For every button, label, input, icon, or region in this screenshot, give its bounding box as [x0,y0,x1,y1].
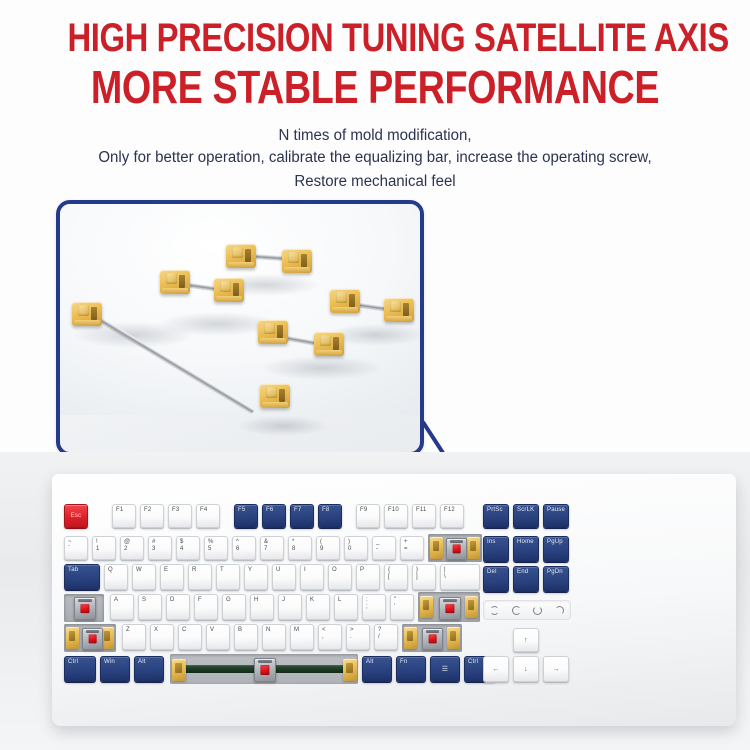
key-4[interactable]: $ 4 [176,536,200,560]
subtitle-line-2: Only for better operation, calibrate the… [11,148,739,168]
key-e[interactable]: E [160,564,184,590]
key-right-alt[interactable]: Alt [362,656,392,682]
key-win[interactable]: Win [100,656,130,682]
spacebar-bare-switch[interactable] [254,658,276,682]
headline-block: HIGH PRECISION TUNING SATELLITE AXIS MOR… [0,0,750,110]
key-l[interactable]: L [334,594,358,620]
stabilizer-housing [384,298,414,322]
num-lock-indicator-icon [490,606,499,615]
switch-stem-icon [452,544,461,553]
key-slash[interactable]: ? / [374,624,398,650]
key-b[interactable]: B [234,624,258,650]
key-f11[interactable]: F11 [412,504,436,528]
backspace-stabilizer-left [430,537,443,559]
key-arrow-right[interactable]: → [543,656,569,682]
key-g[interactable]: G [222,594,246,620]
key-lbracket[interactable]: { [ [384,564,408,590]
subtitle-line-3: Restore mechanical feel [11,172,739,192]
subtitle-line-1: N times of mold modification, [11,126,739,146]
key-scrlk[interactable]: ScrLK [513,504,539,528]
stabilizer-housing [314,332,344,356]
key-semicolon[interactable]: : ; [362,594,386,620]
key-f6[interactable]: F6 [262,504,286,528]
key-r[interactable]: R [188,564,212,590]
key-f8[interactable]: F8 [318,504,342,528]
key-equals[interactable]: + = [400,536,424,560]
key-f12[interactable]: F12 [440,504,464,528]
key-m[interactable]: M [290,624,314,650]
stabilizer-unit-spacebar [72,290,302,416]
switch-stem-icon [445,604,454,614]
arrow-left-icon: ← [492,666,499,673]
key-2[interactable]: @ 2 [120,536,144,560]
key-minus[interactable]: _ - [372,536,396,560]
left-shift-bare-switch[interactable] [82,628,103,650]
key-quote[interactable]: " ' [390,594,414,620]
product-marketing-image: HIGH PRECISION TUNING SATELLITE AXIS MOR… [0,0,750,750]
key-9[interactable]: ( 9 [316,536,340,560]
key-a[interactable]: A [110,594,134,620]
key-ins[interactable]: Ins [483,536,509,562]
key-f1[interactable]: F1 [112,504,136,528]
shadow-patch [238,416,328,436]
switch-stem-icon [88,634,97,643]
key-5[interactable]: % 5 [204,536,228,560]
key-end[interactable]: End [513,566,539,592]
stabilizer-housing [282,249,312,273]
win-lock-indicator-icon [555,606,564,615]
stabilizer-housing [226,244,256,268]
led-indicator-strip [483,600,571,620]
backspace-stabilizer-right [467,537,480,559]
headline-line-2: MORE STABLE PERFORMANCE [68,64,683,110]
key-t[interactable]: T [216,564,240,590]
right-shift-stabilizer-left [404,627,417,649]
key-s[interactable]: S [138,594,162,620]
enter-stabilizer-right [465,596,478,618]
key-esc[interactable]: Esc [64,504,88,528]
stabilizer-housing [72,302,102,326]
key-n[interactable]: N [262,624,286,650]
key-q[interactable]: Q [104,564,128,590]
arrow-up-icon: ↑ [524,637,528,644]
left-shift-stabilizer-left [66,627,79,649]
key-left-ctrl[interactable]: Ctrl [64,656,96,682]
stabilizer-housing [260,384,290,408]
key-v[interactable]: V [206,624,230,650]
key-i[interactable]: I [300,564,324,590]
key-f4[interactable]: F4 [196,504,220,528]
key-x[interactable]: X [150,624,174,650]
scroll-lock-indicator-icon [533,606,542,615]
keyboard-plate: Esc F1 F2 F3 F4 F5 F6 F7 F8 F9 F10 F11 F… [60,482,728,710]
key-backtick[interactable]: ~ ` [64,536,88,560]
right-shift-stabilizer-right [447,627,460,649]
key-pause[interactable]: Pause [543,504,569,528]
key-comma[interactable]: < , [318,624,342,650]
key-f2[interactable]: F2 [140,504,164,528]
key-home[interactable]: Home [513,536,539,562]
switch-stem-icon [428,634,437,643]
key-pgdn[interactable]: PgDn [543,566,569,592]
key-k[interactable]: K [306,594,330,620]
keyboard-case: Esc F1 F2 F3 F4 F5 F6 F7 F8 F9 F10 F11 F… [52,474,736,726]
arrow-right-icon: → [552,666,559,673]
key-1[interactable]: ! 1 [92,536,116,560]
key-8[interactable]: * 8 [288,536,312,560]
enter-stabilizer-left [420,596,433,618]
stabilizer-wire-long [100,318,255,413]
key-period[interactable]: > . [346,624,370,650]
key-p[interactable]: P [356,564,380,590]
key-c[interactable]: C [178,624,202,650]
key-z[interactable]: Z [122,624,146,650]
key-0[interactable]: ) 0 [344,536,368,560]
key-3[interactable]: # 3 [148,536,172,560]
key-7[interactable]: & 7 [260,536,284,560]
key-6[interactable]: ^ 6 [232,536,256,560]
right-shift-bare-switch[interactable] [422,628,443,650]
key-arrow-left[interactable]: ← [483,656,509,682]
key-pgup[interactable]: PgUp [543,536,569,562]
key-f3[interactable]: F3 [168,504,192,528]
key-h[interactable]: H [250,594,274,620]
key-tab[interactable]: Tab [64,564,100,590]
key-u[interactable]: U [272,564,296,590]
capslock-bare-switch[interactable] [74,597,96,620]
key-f7[interactable]: F7 [290,504,314,528]
key-d[interactable]: D [166,594,190,620]
backspace-bare-switch[interactable] [446,538,467,560]
switch-stem-icon [80,604,89,614]
spacebar-stabilizer-right [343,659,357,681]
key-prtsc[interactable]: PrtSc [483,504,509,528]
key-f5[interactable]: F5 [234,504,258,528]
enter-bare-switch[interactable] [439,597,461,620]
key-f10[interactable]: F10 [384,504,408,528]
key-arrow-up[interactable]: ↑ [513,628,539,652]
key-o[interactable]: O [328,564,352,590]
stabilizer-closeup-photo [56,200,424,456]
key-del[interactable]: Del [483,566,509,592]
key-backslash[interactable]: | \ [440,564,480,590]
spacebar-stabilizer-left [172,659,186,681]
key-arrow-down[interactable]: ↓ [513,656,539,682]
arrow-down-icon: ↓ [524,666,528,673]
keyboard-photo: Esc F1 F2 F3 F4 F5 F6 F7 F8 F9 F10 F11 F… [0,452,750,750]
key-left-alt[interactable]: Alt [134,656,164,682]
key-f[interactable]: F [194,594,218,620]
key-f9[interactable]: F9 [356,504,380,528]
key-fn[interactable]: Fn [396,656,426,682]
key-j[interactable]: J [278,594,302,620]
headline-line-1: HIGH PRECISION TUNING SATELLITE AXIS [68,18,683,58]
key-rbracket[interactable]: } ] [412,564,436,590]
switch-stem-icon [260,665,269,675]
key-y[interactable]: Y [244,564,268,590]
stabilizer-housing [330,289,360,313]
caps-lock-indicator-icon [512,606,521,615]
key-menu[interactable]: ☰ [430,656,460,682]
key-w[interactable]: W [132,564,156,590]
